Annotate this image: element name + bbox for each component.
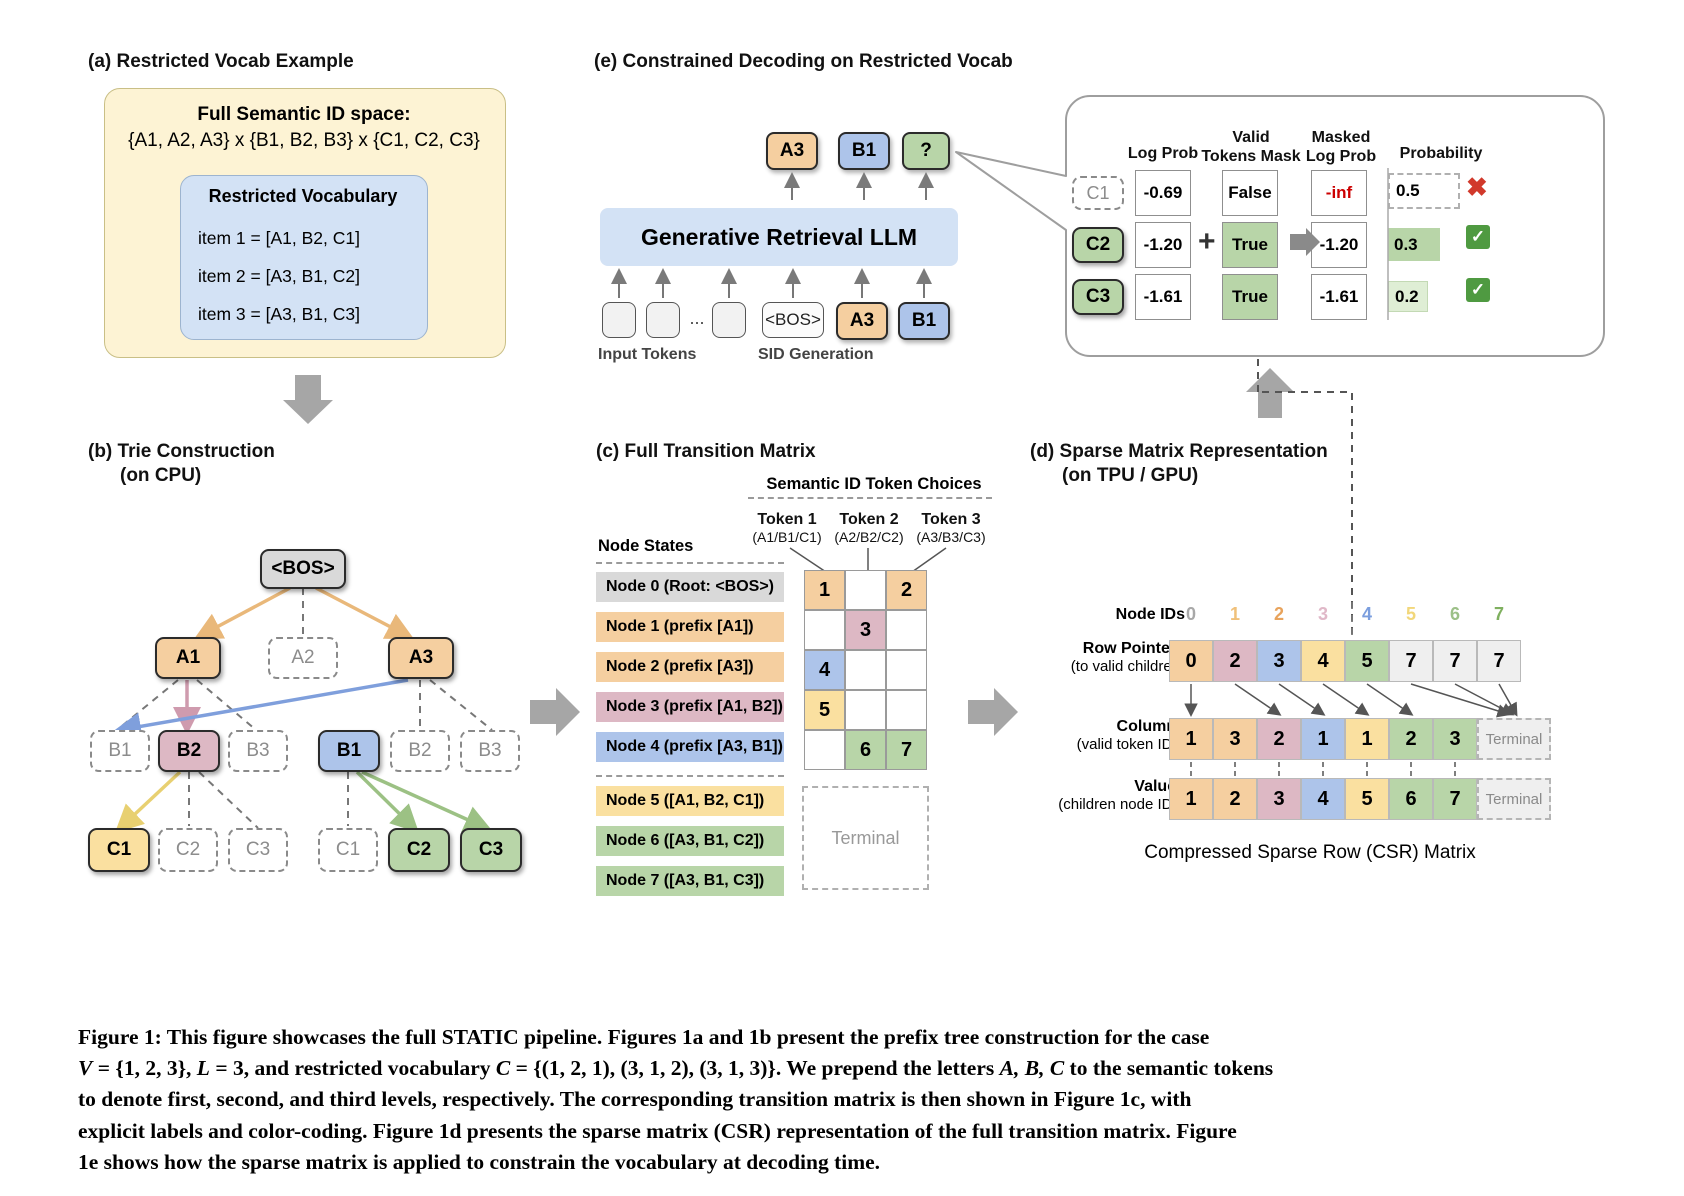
trie-node-a1[interactable]: A1 xyxy=(155,637,221,679)
matrix-cell-r0c2[interactable]: 2 xyxy=(886,570,927,610)
arrow-a-to-b xyxy=(283,375,333,424)
token-3-sub: (A3/B3/C3) xyxy=(908,529,994,546)
panel-e-title: (e) Constrained Decoding on Restricted V… xyxy=(594,50,1013,74)
masked-line1: Masked xyxy=(1296,128,1386,147)
matrix-cell-r3c1[interactable] xyxy=(845,690,886,730)
node-row-label-5: Node 5 ([A1, B2, C1]) xyxy=(596,786,784,816)
trie-node-a1-b2-c1[interactable]: C1 xyxy=(88,828,150,872)
token-1-header: Token 1 (A1/B1/C1) xyxy=(744,510,830,546)
csr-caption: Compressed Sparse Row (CSR) Matrix xyxy=(1100,842,1520,864)
csr-column-2[interactable]: 2 xyxy=(1257,718,1301,760)
vocab-item-2: item 2 = [A3, B1, C2] xyxy=(198,266,360,287)
csr-column-3[interactable]: 1 xyxy=(1301,718,1345,760)
output-token-b1[interactable]: B1 xyxy=(838,132,890,170)
csr-column-6[interactable]: 3 xyxy=(1433,718,1477,760)
csr-value-0[interactable]: 1 xyxy=(1169,778,1213,820)
matrix-cell-r2c0[interactable]: 4 xyxy=(804,650,845,690)
csr-column-1[interactable]: 3 xyxy=(1213,718,1257,760)
columns-sub: (valid token IDs) xyxy=(1035,736,1185,753)
arrow-c-to-d xyxy=(968,688,1018,736)
matrix-cell-r3c0[interactable]: 5 xyxy=(804,690,845,730)
node-id-7: 7 xyxy=(1477,604,1521,625)
node-states-divider xyxy=(596,562,784,564)
input-token-2[interactable] xyxy=(646,302,680,338)
caption-p2a: = {1, 2, 3}, xyxy=(92,1056,196,1080)
logprob-c3: -1.61 xyxy=(1135,274,1191,320)
mask-token-c3[interactable]: C3 xyxy=(1072,279,1124,315)
csr-column-0[interactable]: 1 xyxy=(1169,718,1213,760)
node-states-label: Node States xyxy=(598,537,693,556)
csr-value-6[interactable]: 7 xyxy=(1433,778,1477,820)
trie-node-a3-b1-c2[interactable]: C2 xyxy=(388,828,450,872)
matrix-cell-r4c2[interactable]: 7 xyxy=(886,730,927,770)
token-1-sub: (A1/B1/C1) xyxy=(744,529,830,546)
trie-node-a1-b2-c2[interactable]: C2 xyxy=(158,828,218,872)
vocab-item-1: item 1 = [A1, B2, C1] xyxy=(198,228,360,249)
columns-label-group: Columns (valid token IDs) xyxy=(1035,718,1185,753)
valid-mask-line1: Valid xyxy=(1196,128,1306,147)
columns-label: Columns xyxy=(1035,718,1185,736)
node-id-6: 6 xyxy=(1433,604,1477,625)
csr-value-1[interactable]: 2 xyxy=(1213,778,1257,820)
restricted-vocab-title: Restricted Vocabulary xyxy=(180,186,426,207)
matrix-cell-r2c2[interactable] xyxy=(886,650,927,690)
row-pointers-label: Row Pointers xyxy=(1035,640,1185,658)
tick-icon-c3: ✓ xyxy=(1466,278,1490,302)
row-pointer-0[interactable]: 0 xyxy=(1169,640,1213,682)
matrix-cell-r4c0[interactable] xyxy=(804,730,845,770)
panel-c-title: (c) Full Transition Matrix xyxy=(596,440,816,464)
panel-d-title-line2: (on TPU / GPU) xyxy=(1062,464,1198,488)
output-token-a3[interactable]: A3 xyxy=(766,132,818,170)
csr-column-5[interactable]: 2 xyxy=(1389,718,1433,760)
masked-logprob-c3: -1.61 xyxy=(1311,274,1367,320)
logprob-c1: -0.69 xyxy=(1135,170,1191,216)
token-2-sub: (A2/B2/C2) xyxy=(826,529,912,546)
cross-icon-c1: ✖ xyxy=(1466,172,1488,203)
input-token-1[interactable] xyxy=(602,302,636,338)
node-id-0: 0 xyxy=(1169,604,1213,625)
token-column-leaders xyxy=(790,548,946,572)
trie-node-a1-b1[interactable]: B1 xyxy=(90,730,150,772)
caption-line-1: Figure 1: This figure showcases the full… xyxy=(78,1022,1608,1053)
trie-node-a1-b2[interactable]: B2 xyxy=(158,730,220,772)
valid-mask-line2: Tokens Mask xyxy=(1196,147,1306,166)
trie-node-a3-b3[interactable]: B3 xyxy=(460,730,520,772)
input-token-3[interactable] xyxy=(712,302,746,338)
valid-mask-c1: False xyxy=(1222,170,1278,216)
logprob-header: Log Prob xyxy=(1120,144,1206,163)
mask-token-c1[interactable]: C1 xyxy=(1072,176,1124,210)
node-id-5: 5 xyxy=(1389,604,1433,625)
tick-icon-c2: ✓ xyxy=(1466,225,1490,249)
node-row-label-4: Node 4 (prefix [A3, B1]) xyxy=(596,732,784,762)
values-label: Values xyxy=(1035,778,1185,796)
node-row-label-1: Node 1 (prefix [A1]) xyxy=(596,612,784,642)
csr-value-3[interactable]: 4 xyxy=(1301,778,1345,820)
caption-p2b: = 3, and restricted vocabulary xyxy=(210,1056,496,1080)
panel-d-title-line1: (d) Sparse Matrix Representation xyxy=(1030,440,1328,464)
node-id-2: 2 xyxy=(1257,604,1301,625)
caption-line-4: explicit labels and color-coding. Figure… xyxy=(78,1116,1608,1147)
panel-b-title-line2: (on CPU) xyxy=(120,464,201,488)
matrix-cell-r4c1[interactable]: 6 xyxy=(845,730,886,770)
node-id-3: 3 xyxy=(1301,604,1345,625)
values-label-group: Values (children node IDs) xyxy=(1035,778,1185,813)
node-row-label-0: Node 0 (Root: <BOS>) xyxy=(596,572,784,602)
arrow-b-to-c xyxy=(530,688,580,736)
csr-columns-terminal: Terminal xyxy=(1477,718,1551,760)
arrow-d-to-e xyxy=(1246,368,1294,418)
csr-value-2[interactable]: 3 xyxy=(1257,778,1301,820)
matrix-terminal-box: Terminal xyxy=(802,786,929,890)
node-row-label-6: Node 6 ([A3, B1, C2]) xyxy=(596,826,784,856)
probability-c3: 0.2 xyxy=(1388,281,1428,312)
csr-values-terminal: Terminal xyxy=(1477,778,1551,820)
row-pointer-7[interactable]: 7 xyxy=(1477,640,1521,682)
row-pointer-5[interactable]: 7 xyxy=(1389,640,1433,682)
trie-node-a2[interactable]: A2 xyxy=(268,637,338,679)
input-tokens-label: Input Tokens xyxy=(598,346,696,364)
valid-tokens-mask-header: Valid Tokens Mask xyxy=(1196,128,1306,166)
caption-line-2: V = {1, 2, 3}, L = 3, and restricted voc… xyxy=(78,1053,1608,1084)
values-sub: (children node IDs) xyxy=(1035,796,1185,813)
csr-value-5[interactable]: 6 xyxy=(1389,778,1433,820)
matrix-cell-r2c1[interactable] xyxy=(845,650,886,690)
node-row-label-3: Node 3 (prefix [A1, B2]) xyxy=(596,692,784,722)
matrix-cell-r1c2[interactable] xyxy=(886,610,927,650)
row-pointer-6[interactable]: 7 xyxy=(1433,640,1477,682)
row-pointer-2[interactable]: 3 xyxy=(1257,640,1301,682)
terminal-rows-divider xyxy=(596,775,784,777)
trie-node-a3[interactable]: A3 xyxy=(388,637,454,679)
csr-column-4[interactable]: 1 xyxy=(1345,718,1389,760)
matrix-cell-r3c2[interactable] xyxy=(886,690,927,730)
masked-line2: Log Prob xyxy=(1296,147,1386,166)
caption-l-symbol: L xyxy=(197,1056,210,1080)
row-pointer-1[interactable]: 2 xyxy=(1213,640,1257,682)
csr-value-4[interactable]: 5 xyxy=(1345,778,1389,820)
full-semantic-id-expr: {A1, A2, A3} x {B1, B2, B3} x {C1, C2, C… xyxy=(104,130,504,152)
output-token-unknown[interactable]: ? xyxy=(902,132,950,170)
token-2-name: Token 2 xyxy=(826,510,912,529)
trie-edges xyxy=(117,588,492,828)
node-id-1: 1 xyxy=(1213,604,1257,625)
masked-logprob-c1: -inf xyxy=(1311,170,1367,216)
trie-node-a3-b1[interactable]: B1 xyxy=(318,730,380,772)
figure-caption: Figure 1: This figure showcases the full… xyxy=(78,1022,1608,1178)
valid-mask-c2: True xyxy=(1222,222,1278,268)
token-2-header: Token 2 (A2/B2/C2) xyxy=(826,510,912,546)
node-row-label-2: Node 2 (prefix [A3]) xyxy=(596,652,784,682)
full-semantic-id-title: Full Semantic ID space: xyxy=(104,104,504,126)
caption-v-symbol: V xyxy=(78,1056,92,1080)
plus-icon: + xyxy=(1198,225,1216,259)
probability-c1: 0.5 xyxy=(1388,173,1460,209)
mask-token-c2[interactable]: C2 xyxy=(1072,227,1124,263)
trie-node-a1-b2-c3[interactable]: C3 xyxy=(228,828,288,872)
masked-logprob-header: Masked Log Prob xyxy=(1296,128,1386,166)
trie-node-a1-b3[interactable]: B3 xyxy=(228,730,288,772)
logprob-c2: -1.20 xyxy=(1135,222,1191,268)
vocab-item-3: item 3 = [A3, B1, C3] xyxy=(198,304,360,325)
caption-line-5: 1e shows how the sparse matrix is applie… xyxy=(78,1147,1608,1178)
caption-line-3: to denote first, second, and third level… xyxy=(78,1084,1608,1115)
row-pointer-4[interactable]: 5 xyxy=(1345,640,1389,682)
input-token-bos[interactable]: <BOS> xyxy=(762,302,824,338)
generative-retrieval-llm-box: Generative Retrieval LLM xyxy=(600,208,958,266)
trie-node-a3-b1-c1[interactable]: C1 xyxy=(318,828,378,872)
input-tokens-ellipsis: ... xyxy=(684,308,710,329)
row-pointers-sub: (to valid children) xyxy=(1035,658,1185,675)
token-3-header: Token 3 (A3/B3/C3) xyxy=(908,510,994,546)
trie-node-a3-b2[interactable]: B2 xyxy=(390,730,450,772)
node-id-4: 4 xyxy=(1345,604,1389,625)
masked-logprob-c2: -1.20 xyxy=(1311,222,1367,268)
caption-p2c: = {(1, 2, 1), (3, 1, 2), (3, 1, 3)}. We … xyxy=(510,1056,999,1080)
token-1-name: Token 1 xyxy=(744,510,830,529)
matrix-cell-r1c1[interactable]: 3 xyxy=(845,610,886,650)
trie-node-a3-b1-c3[interactable]: C3 xyxy=(460,828,522,872)
input-token-a3[interactable]: A3 xyxy=(836,302,888,340)
probability-header: Probability xyxy=(1386,144,1496,163)
row-pointer-3[interactable]: 4 xyxy=(1301,640,1345,682)
node-row-label-7: Node 7 ([A3, B1, C3]) xyxy=(596,866,784,896)
caption-p2d: to the semantic tokens xyxy=(1064,1056,1273,1080)
caption-abc-symbols: A, B, C xyxy=(1000,1056,1065,1080)
input-token-b1[interactable]: B1 xyxy=(898,302,950,340)
panel-a-title: (a) Restricted Vocab Example xyxy=(88,50,354,74)
valid-mask-c3: True xyxy=(1222,274,1278,320)
semantic-id-token-choices-label: Semantic ID Token Choices xyxy=(762,475,986,494)
panel-b-title-line1: (b) Trie Construction xyxy=(88,440,275,464)
caption-c-symbol: C xyxy=(496,1056,510,1080)
token-choices-divider xyxy=(748,497,992,499)
row-pointers-label-group: Row Pointers (to valid children) xyxy=(1035,640,1185,675)
matrix-cell-r0c0[interactable]: 1 xyxy=(804,570,845,610)
token-3-name: Token 3 xyxy=(908,510,994,529)
matrix-cell-r0c1[interactable] xyxy=(845,570,886,610)
sid-generation-label: SID Generation xyxy=(758,346,874,364)
trie-node-bos[interactable]: <BOS> xyxy=(260,549,346,589)
probability-c2: 0.3 xyxy=(1388,228,1440,261)
matrix-cell-r1c0[interactable] xyxy=(804,610,845,650)
